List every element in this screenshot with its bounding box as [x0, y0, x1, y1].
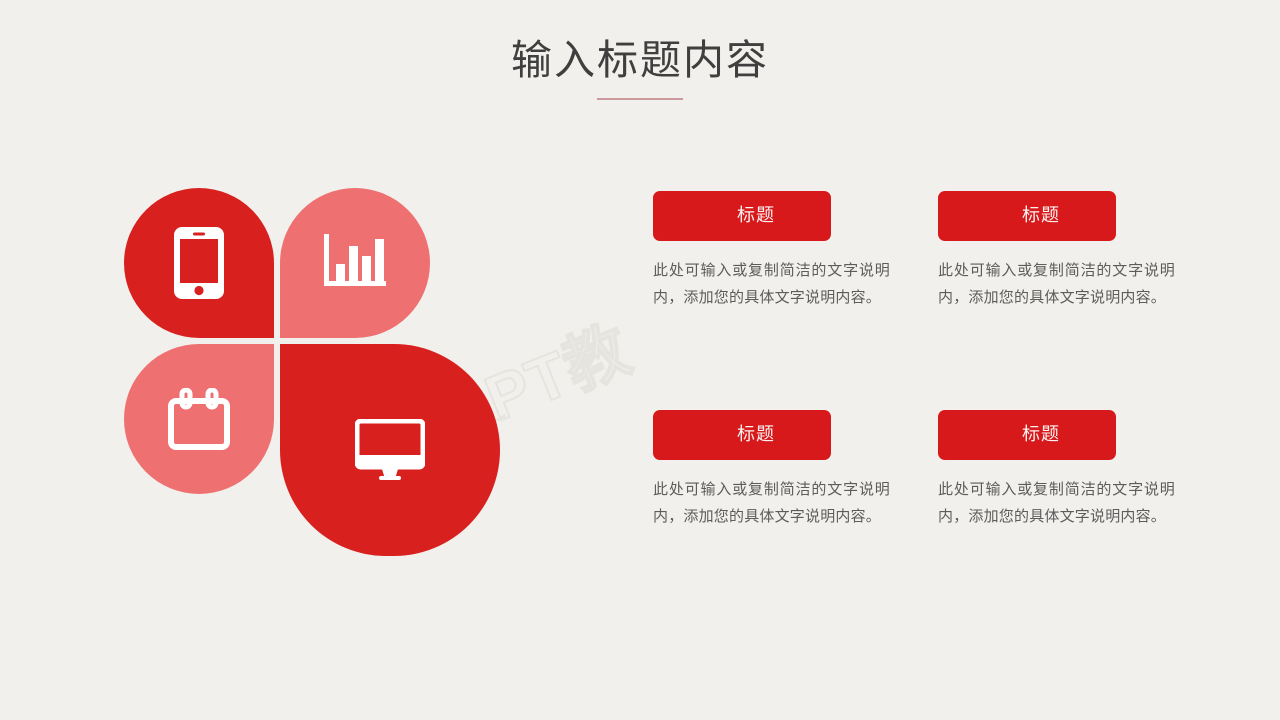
cell-title-button[interactable]: 标题 — [653, 410, 831, 460]
page-title: 输入标题内容 — [0, 34, 1280, 86]
bar-chart-icon — [324, 234, 386, 292]
cell-body-text: 此处可输入或复制简洁的文字说明内，添加您的具体文字说明内容。 — [653, 257, 890, 311]
content-cell: 标题 此处可输入或复制简洁的文字说明内，添加您的具体文字说明内容。 — [653, 191, 888, 311]
petal-smartphone[interactable] — [124, 188, 274, 338]
cell-body-text: 此处可输入或复制简洁的文字说明内，添加您的具体文字说明内容。 — [653, 476, 890, 530]
cell-title-label: 标题 — [1022, 425, 1060, 445]
cell-title-button[interactable]: 标题 — [938, 410, 1116, 460]
petal-cluster — [124, 188, 500, 556]
cell-body-text: 此处可输入或复制简洁的文字说明内，添加您的具体文字说明内容。 — [938, 257, 1175, 311]
petal-monitor[interactable] — [280, 344, 500, 556]
content-cell: 标题 此处可输入或复制简洁的文字说明内，添加您的具体文字说明内容。 — [653, 410, 888, 530]
cell-body-text: 此处可输入或复制简洁的文字说明内，添加您的具体文字说明内容。 — [938, 476, 1175, 530]
smartphone-icon — [174, 227, 224, 299]
content-cell: 标题 此处可输入或复制简洁的文字说明内，添加您的具体文字说明内容。 — [938, 410, 1173, 530]
title-block: 输入标题内容 — [0, 34, 1280, 100]
title-underline-divider — [597, 98, 683, 100]
slide-canvas: 输入标题内容 PPT教 — [0, 0, 1280, 720]
monitor-icon — [355, 419, 425, 481]
content-grid: 标题 此处可输入或复制简洁的文字说明内，添加您的具体文字说明内容。 标题 此处可… — [653, 191, 1183, 561]
cell-title-label: 标题 — [737, 425, 775, 445]
calendar-icon — [168, 388, 230, 450]
cell-title-button[interactable]: 标题 — [938, 191, 1116, 241]
petal-bar-chart[interactable] — [280, 188, 430, 338]
cell-title-label: 标题 — [737, 206, 775, 226]
cell-title-label: 标题 — [1022, 206, 1060, 226]
content-cell: 标题 此处可输入或复制简洁的文字说明内，添加您的具体文字说明内容。 — [938, 191, 1173, 311]
petal-calendar[interactable] — [124, 344, 274, 494]
cell-title-button[interactable]: 标题 — [653, 191, 831, 241]
